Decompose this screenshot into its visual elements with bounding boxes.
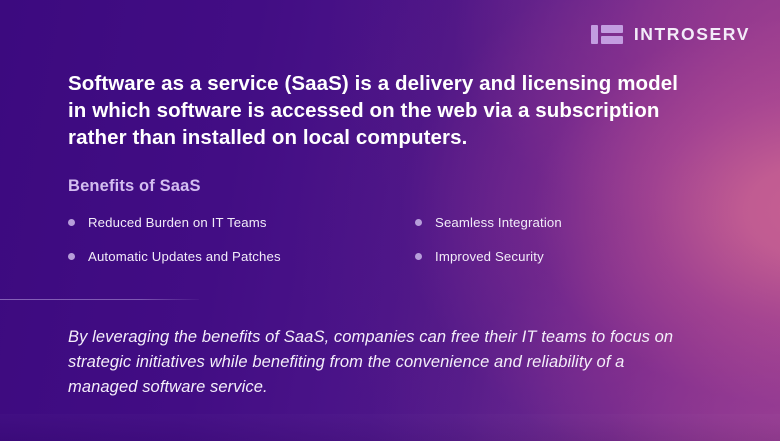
slide-canvas: INTROSERV Software as a service (SaaS) i… [0, 0, 780, 441]
list-item-label: Reduced Burden on IT Teams [88, 215, 267, 230]
logo-bar-horizontal-top [601, 25, 623, 33]
bottom-band [0, 414, 780, 441]
logo-bar-vertical [591, 25, 598, 44]
page-title: Software as a service (SaaS) is a delive… [68, 70, 680, 151]
bullet-icon [68, 219, 75, 226]
list-item: Reduced Burden on IT Teams [68, 214, 415, 231]
section-heading: Benefits of SaaS [68, 177, 201, 196]
introserv-bars-icon [591, 25, 623, 44]
list-item-label: Seamless Integration [435, 215, 562, 230]
section-divider [0, 299, 199, 300]
benefits-column-right: Seamless Integration Improved Security [415, 214, 562, 265]
list-item: Automatic Updates and Patches [68, 248, 415, 265]
list-item: Improved Security [415, 248, 562, 265]
benefits-column-left: Reduced Burden on IT Teams Automatic Upd… [68, 214, 415, 265]
brand-name: INTROSERV [634, 24, 750, 45]
list-item-label: Automatic Updates and Patches [88, 249, 281, 264]
brand-logo[interactable]: INTROSERV [591, 24, 750, 45]
benefits-list: Reduced Burden on IT Teams Automatic Upd… [68, 214, 688, 265]
summary-quote: By leveraging the benefits of SaaS, comp… [68, 325, 684, 400]
bullet-icon [415, 219, 422, 226]
bullet-icon [68, 253, 75, 260]
logo-bar-stack [601, 25, 623, 44]
list-item: Seamless Integration [415, 214, 562, 231]
logo-bar-horizontal-bottom [601, 36, 623, 44]
list-item-label: Improved Security [435, 249, 544, 264]
bullet-icon [415, 253, 422, 260]
